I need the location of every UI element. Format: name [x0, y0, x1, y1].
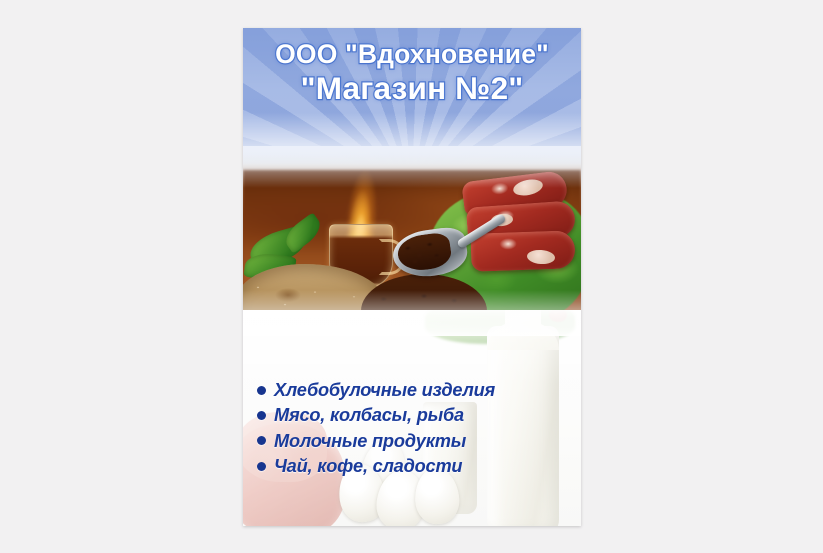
advertisement-poster: ООО "Вдохновение" "Магазин №2" — [243, 28, 581, 526]
bullet-icon — [257, 386, 266, 395]
scoop-coffee-beans — [396, 231, 453, 273]
bullet-icon — [257, 411, 266, 420]
list-item: Хлебобулочные изделия — [257, 380, 581, 400]
poster-title-block: ООО "Вдохновение" "Магазин №2" — [243, 28, 581, 105]
bullet-icon — [257, 436, 266, 445]
food-photo-band — [243, 146, 581, 336]
store-name-line: "Магазин №2" — [243, 71, 581, 105]
list-item: Чай, кофе, сладости — [257, 456, 581, 476]
photo-top-fade — [243, 146, 581, 188]
bullet-icon — [257, 462, 266, 471]
photo-bottom-fade — [243, 290, 581, 336]
list-item-label: Хлебобулочные изделия — [274, 380, 495, 400]
list-item-label: Молочные продукты — [274, 431, 466, 451]
list-item: Мясо, колбасы, рыба — [257, 405, 581, 425]
poster-header: ООО "Вдохновение" "Магазин №2" — [243, 28, 581, 164]
meat-roll — [470, 230, 575, 272]
list-item-label: Мясо, колбасы, рыба — [274, 405, 464, 425]
list-item: Молочные продукты — [257, 431, 581, 451]
company-name-line: ООО "Вдохновение" — [243, 40, 581, 69]
product-list: Хлебобулочные изделия Мясо, колбасы, рыб… — [243, 380, 581, 482]
list-item-label: Чай, кофе, сладости — [274, 456, 462, 476]
